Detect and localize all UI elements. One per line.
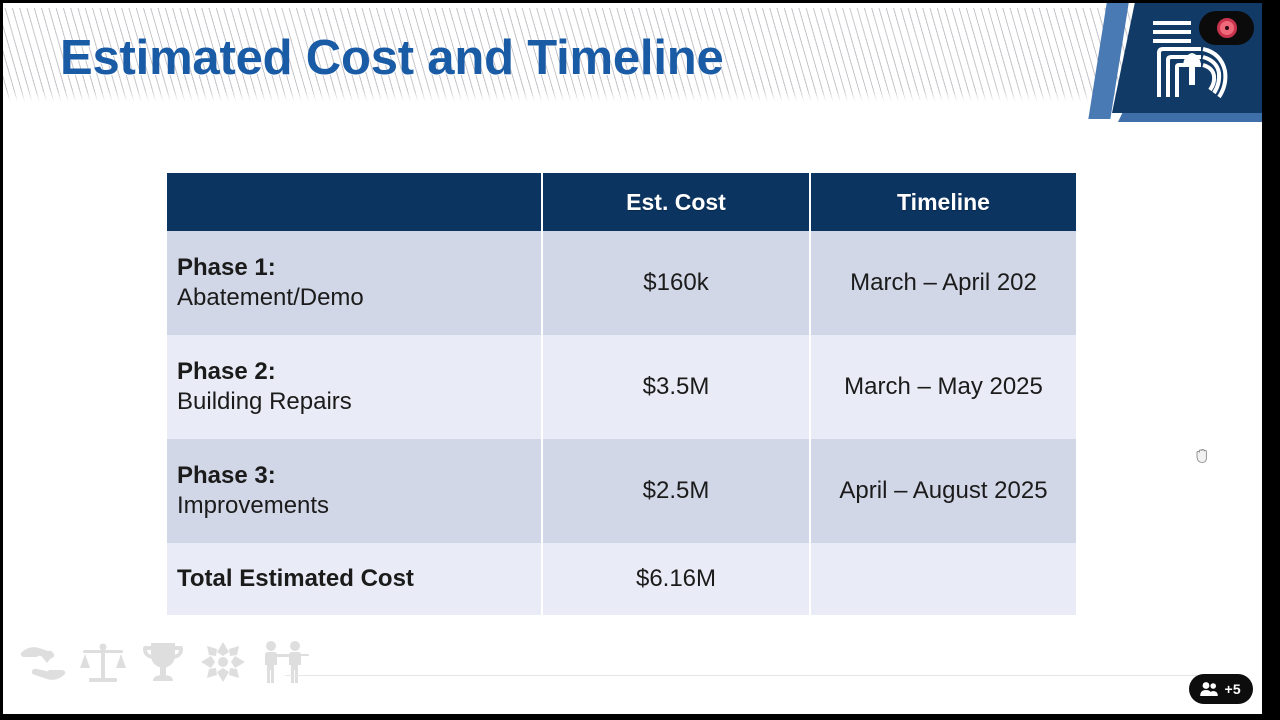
cost-and-timeline-table: Est. Cost Timeline Phase 1: Abatement/De… — [167, 173, 1076, 615]
phase-description: Abatement/Demo — [177, 283, 541, 313]
phase-title: Phase 1: — [177, 253, 541, 283]
cell-est-cost: $3.5M — [542, 335, 810, 439]
scales-of-justice-icon — [77, 638, 129, 686]
cell-timeline: April – August 2025 — [810, 439, 1076, 543]
cell-phase-label: Phase 1: Abatement/Demo — [167, 231, 542, 335]
participants-count-pill[interactable]: +5 — [1189, 674, 1253, 704]
table-row: Phase 2: Building Repairs $3.5M March – … — [167, 335, 1076, 439]
people-group-icon — [1199, 681, 1219, 697]
cell-phase-label: Phase 3: Improvements — [167, 439, 542, 543]
cell-total-label: Total Estimated Cost — [167, 543, 542, 615]
record-indicator-icon — [1217, 18, 1237, 38]
cell-total-timeline — [810, 543, 1076, 615]
column-header-phase — [167, 173, 542, 231]
cell-total-cost: $6.16M — [542, 543, 810, 615]
table-header-row: Est. Cost Timeline — [167, 173, 1076, 231]
footer-divider — [285, 675, 1201, 676]
footer-icon-strip — [17, 638, 309, 686]
table-total-row: Total Estimated Cost $6.16M — [167, 543, 1076, 615]
cell-est-cost: $2.5M — [542, 439, 810, 543]
table-row: Phase 1: Abatement/Demo $160k March – Ap… — [167, 231, 1076, 335]
table-row: Phase 3: Improvements $2.5M April – Augu… — [167, 439, 1076, 543]
two-people-icon — [257, 638, 309, 686]
phase-title: Phase 3: — [177, 461, 541, 491]
letterbox-left — [0, 0, 3, 720]
grab-hand-cursor-icon — [1192, 445, 1214, 467]
cell-phase-label: Phase 2: Building Repairs — [167, 335, 542, 439]
snowflake-star-icon — [197, 638, 249, 686]
cell-est-cost: $160k — [542, 231, 810, 335]
logo-underline-bar — [1118, 113, 1262, 122]
letterbox-top — [0, 0, 1280, 3]
cell-timeline: March – April 202 — [810, 231, 1076, 335]
screen-share-viewport: Estimated Cost and Timeline — [0, 0, 1280, 720]
column-header-est-cost: Est. Cost — [542, 173, 810, 231]
letterbox-right — [1262, 0, 1280, 720]
phase-description: Improvements — [177, 491, 541, 521]
page-title: Estimated Cost and Timeline — [60, 30, 724, 86]
phase-title: Phase 2: — [177, 357, 541, 387]
presentation-slide: Estimated Cost and Timeline — [3, 3, 1262, 714]
hands-holding-heart-icon — [17, 638, 69, 686]
total-label-text: Total Estimated Cost — [177, 565, 414, 592]
column-header-timeline: Timeline — [810, 173, 1076, 231]
phase-description: Building Repairs — [177, 387, 541, 417]
cell-timeline: March – May 2025 — [810, 335, 1076, 439]
trophy-icon — [137, 638, 189, 686]
participants-count-label: +5 — [1224, 681, 1241, 697]
letterbox-bottom — [0, 714, 1280, 720]
recording-indicator-pill[interactable] — [1199, 11, 1254, 45]
